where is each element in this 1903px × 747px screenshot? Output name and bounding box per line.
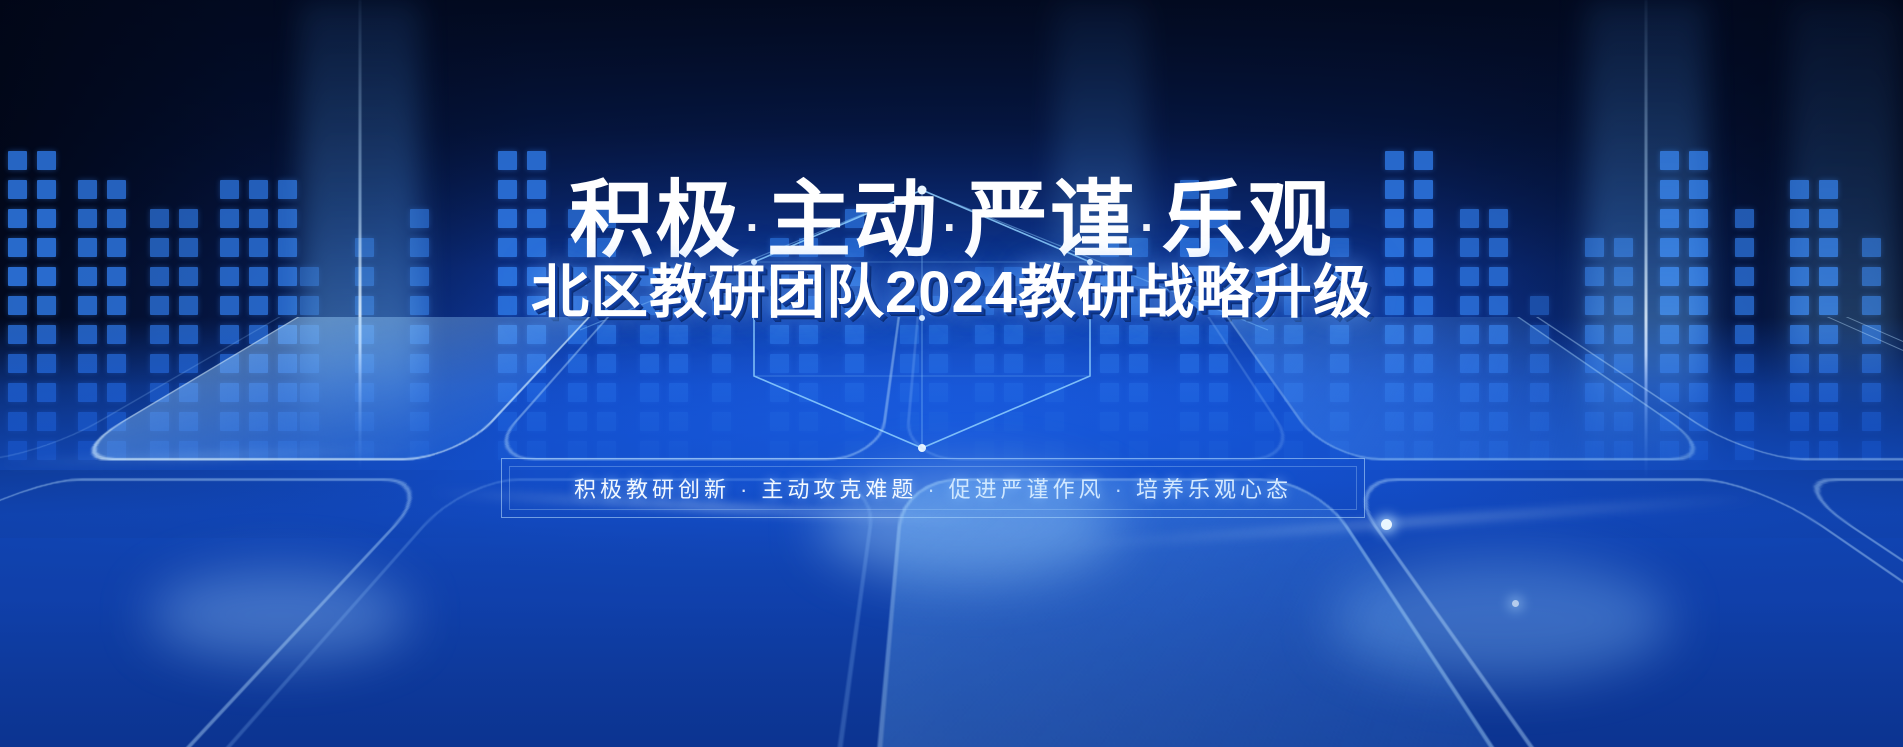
title-separator-1: ·: [741, 201, 766, 253]
tagline-item-3: 促进严谨作风: [949, 477, 1105, 502]
tagline-item-1: 积极教研创新: [574, 477, 730, 502]
tagline-separator-3: ·: [1105, 477, 1136, 502]
tagline-separator-2: ·: [917, 477, 948, 502]
banner-stage: 积极·主动·严谨·乐观 北区教研团队2024教研战略升级 积极教研创新·主动攻克…: [0, 0, 1903, 747]
title-separator-3: ·: [1136, 201, 1161, 253]
main-title-row: 积极·主动·严谨·乐观: [0, 178, 1903, 262]
banner-content: 积极·主动·严谨·乐观 北区教研团队2024教研战略升级 积极教研创新·主动攻克…: [0, 0, 1903, 747]
title-segment-1: 积极: [569, 173, 741, 267]
subtitle: 北区教研团队2024教研战略升级: [531, 264, 1372, 322]
title-segment-4: 乐观: [1162, 173, 1334, 267]
accent-dot-right: [1381, 519, 1392, 530]
tagline-item-2: 主动攻克难题: [761, 477, 917, 502]
tagline-separator-1: ·: [730, 477, 761, 502]
accent-dot-floor: [1512, 600, 1519, 607]
main-title: 积极·主动·严谨·乐观: [569, 178, 1333, 262]
tagline: 积极教研创新·主动攻克难题·促进严谨作风·培养乐观心态: [574, 472, 1292, 504]
title-segment-2: 主动: [767, 173, 939, 267]
title-segment-3: 严谨: [964, 173, 1136, 267]
subtitle-row: 北区教研团队2024教研战略升级: [0, 264, 1903, 322]
tagline-frame: 积极教研创新·主动攻克难题·促进严谨作风·培养乐观心态: [501, 458, 1365, 518]
title-separator-2: ·: [939, 201, 964, 253]
tagline-item-4: 培养乐观心态: [1136, 477, 1292, 502]
